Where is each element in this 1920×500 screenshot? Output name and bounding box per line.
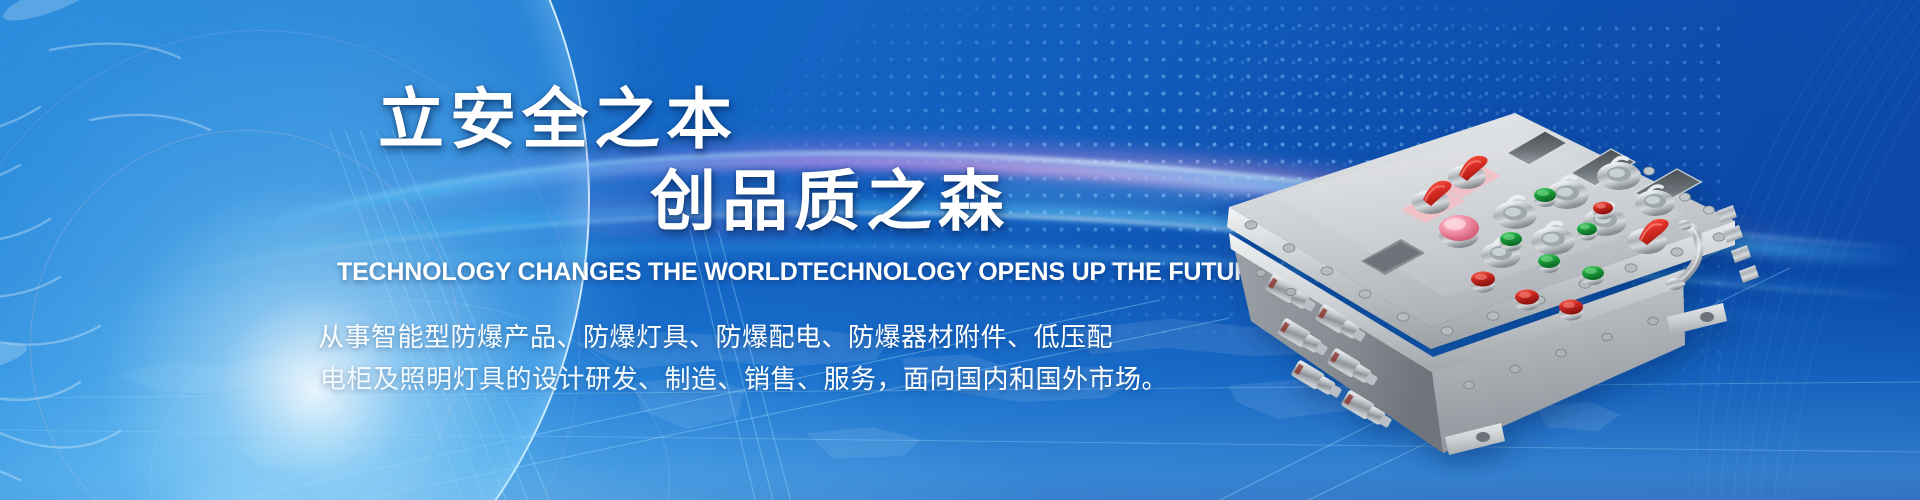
explosion-proof-control-box [1215, 45, 1775, 475]
headline-line-2: 创品质之森 [650, 168, 1010, 234]
copy-block: 立安全之本 创品质之森 TECHNOLOGY CHANGES THE WORLD… [0, 0, 1100, 500]
headline-line-1: 立安全之本 [378, 86, 738, 152]
english-subtitle: TECHNOLOGY CHANGES THE WORLDTECHNOLOGY O… [337, 258, 1269, 287]
body-copy-line-1: 从事智能型防爆产品、防爆灯具、防爆配电、防爆器材附件、低压配 [318, 316, 1168, 358]
body-copy-line-2: 电柜及照明灯具的设计研发、制造、销售、服务，面向国内和国外市场。 [318, 358, 1168, 400]
body-copy: 从事智能型防爆产品、防爆灯具、防爆配电、防爆器材附件、低压配 电柜及照明灯具的设… [318, 316, 1168, 400]
emergency-stop-button [1439, 215, 1479, 248]
hero-banner: 立安全之本 创品质之森 TECHNOLOGY CHANGES THE WORLD… [0, 0, 1920, 500]
